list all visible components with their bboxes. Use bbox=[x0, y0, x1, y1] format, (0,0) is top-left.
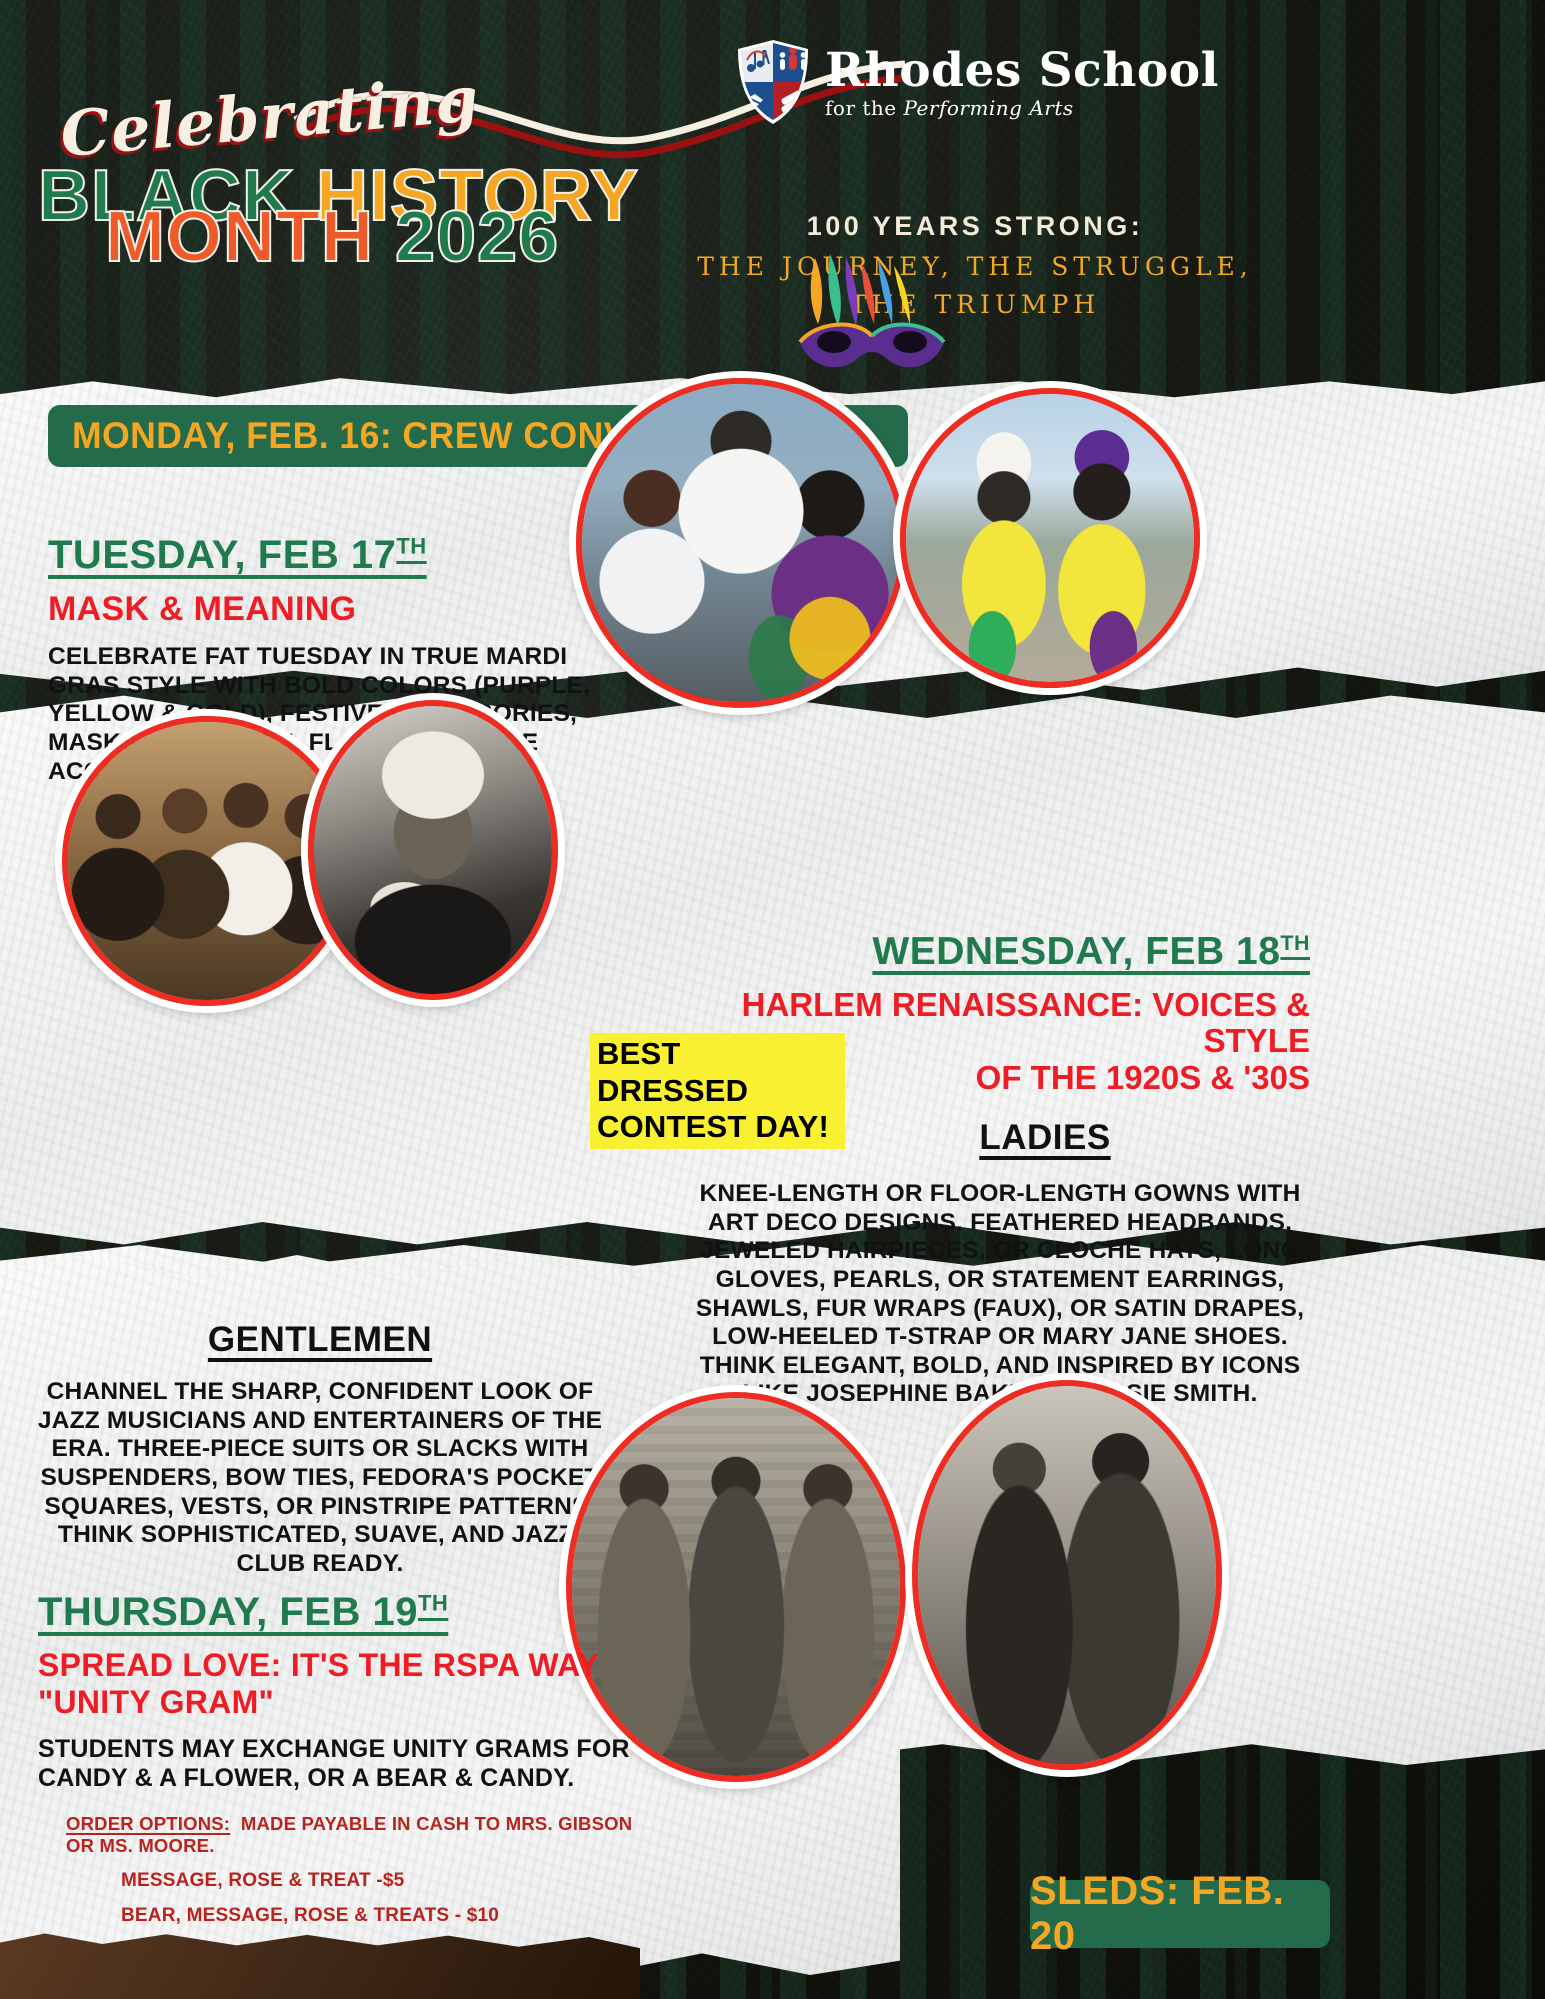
wednesday-date: WEDNESDAY, FEB 18TH bbox=[690, 930, 1310, 974]
best-dressed-badge-line2: CONTEST DAY! bbox=[597, 1109, 838, 1146]
tagline-main: 100 YEARS STRONG: bbox=[807, 211, 1144, 242]
gentlemen-body: CHANNEL THE SHARP, CONFIDENT LOOK OF JAZ… bbox=[30, 1378, 610, 1579]
title-word-year: 2026 bbox=[395, 197, 559, 277]
order-option-2: BEAR, MESSAGE, ROSE & TREATS - $10 bbox=[66, 1905, 638, 1927]
best-dressed-badge: BEST DRESSED CONTEST DAY! bbox=[590, 1033, 845, 1149]
shield-crest-icon bbox=[735, 38, 811, 126]
title-line-2: MONTH 2026 bbox=[105, 196, 559, 278]
thursday-date-text: THURSDAY, FEB 19 bbox=[38, 1590, 418, 1634]
tuesday-theme: MASK & MEANING bbox=[48, 590, 593, 629]
logo-subtitle: for the Performing Arts bbox=[825, 98, 1219, 118]
mardi-gras-group-photo bbox=[576, 378, 906, 708]
logo-sub-pre: for the bbox=[825, 96, 903, 120]
gentlemen-section: GENTLEMEN CHANNEL THE SHARP, CONFIDENT L… bbox=[30, 1320, 610, 1579]
order-option-1: MESSAGE, ROSE & TREAT -$5 bbox=[66, 1870, 638, 1892]
thursday-date-ordinal: TH bbox=[418, 1591, 448, 1616]
thursday-body: STUDENTS MAY EXCHANGE UNITY GRAMS FOR CA… bbox=[38, 1735, 638, 1794]
thursday-theme-line1: SPREAD LOVE: IT'S THE RSPA WAY bbox=[38, 1647, 638, 1684]
gentlemen-heading: GENTLEMEN bbox=[30, 1320, 610, 1360]
logo-text-block: Rhodes School for the Performing Arts bbox=[825, 47, 1219, 118]
vintage-portrait-photo bbox=[308, 700, 558, 1000]
tuesday-date-text: TUESDAY, FEB 17 bbox=[48, 533, 396, 577]
order-options-block: ORDER OPTIONS: MADE PAYABLE IN CASH TO M… bbox=[38, 1813, 638, 1927]
poster-root: Celebrating BLACK HISTORY MONTH 2026 bbox=[0, 0, 1545, 1999]
sleds-label: SLEDS: FEB. 20 bbox=[1030, 1869, 1330, 1959]
wednesday-section: WEDNESDAY, FEB 18TH HARLEM RENAISSANCE: … bbox=[690, 930, 1310, 1409]
vintage-couple-photo bbox=[912, 1380, 1222, 1770]
logo-school-name: Rhodes School bbox=[825, 47, 1219, 94]
wednesday-date-text: WEDNESDAY, FEB 18 bbox=[872, 930, 1280, 973]
ladies-heading: LADIES bbox=[780, 1118, 1310, 1158]
mardi-gras-mask-icon bbox=[760, 250, 990, 380]
thursday-date: THURSDAY, FEB 19TH bbox=[38, 1590, 638, 1635]
school-logo: Rhodes School for the Performing Arts bbox=[735, 38, 1219, 126]
logo-sub-post: Performing Arts bbox=[903, 96, 1073, 120]
thursday-theme: SPREAD LOVE: IT'S THE RSPA WAY "UNITY GR… bbox=[38, 1647, 638, 1721]
wednesday-date-ordinal: TH bbox=[1280, 931, 1310, 955]
order-options-label: ORDER OPTIONS: bbox=[66, 1813, 230, 1834]
thursday-section: THURSDAY, FEB 19TH SPREAD LOVE: IT'S THE… bbox=[38, 1590, 638, 1927]
order-options-line: ORDER OPTIONS: MADE PAYABLE IN CASH TO M… bbox=[66, 1813, 638, 1857]
ladies-body: KNEE-LENGTH OR FLOOR-LENGTH GOWNS WITH A… bbox=[690, 1180, 1310, 1409]
tuesday-date: TUESDAY, FEB 17TH bbox=[48, 533, 593, 578]
best-dressed-badge-line1: BEST DRESSED bbox=[597, 1036, 838, 1109]
thursday-theme-line2: "UNITY GRAM" bbox=[38, 1684, 638, 1721]
title-word-month: MONTH bbox=[105, 197, 374, 277]
sleds-badge: SLEDS: FEB. 20 bbox=[1030, 1880, 1330, 1948]
tuesday-date-ordinal: TH bbox=[396, 534, 426, 559]
mardi-gras-tutus-photo bbox=[900, 388, 1200, 688]
